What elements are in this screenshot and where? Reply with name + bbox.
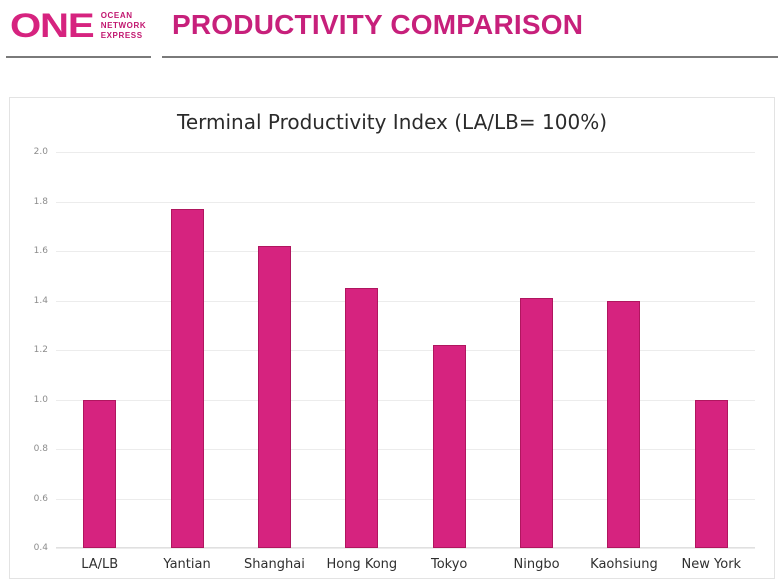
logo-word-line-3: EXPRESS (101, 31, 147, 41)
y-axis-tick-label: 0.6 (34, 494, 48, 504)
y-axis-tick-label: 0.4 (34, 543, 48, 553)
gridline: 0.4 (56, 548, 755, 549)
gridline: 0.8 (56, 449, 755, 450)
header-divider-right (162, 56, 778, 58)
x-axis-tick-label: Tokyo (431, 557, 467, 572)
y-axis-tick-label: 0.8 (34, 444, 48, 454)
logo-mark-text: ONE (10, 9, 93, 43)
chart-bar[interactable] (83, 400, 116, 549)
gridline: 1.2 (56, 350, 755, 351)
x-axis-tick-label: Kaohsiung (590, 557, 658, 572)
gridline: 1.6 (56, 251, 755, 252)
logo-word-line-1: OCEAN (101, 11, 147, 21)
chart-bar[interactable] (258, 246, 291, 548)
chart-bar[interactable] (607, 301, 640, 549)
page-title: PRODUCTIVITY COMPARISON (172, 9, 583, 41)
y-axis-tick-label: 1.8 (34, 197, 48, 207)
gridline: 1.4 (56, 301, 755, 302)
y-axis-tick-label: 1.4 (34, 296, 48, 306)
y-axis-tick-label: 1.2 (34, 345, 48, 355)
chart-bar[interactable] (345, 288, 378, 548)
gridline: 2.0 (56, 152, 755, 153)
x-axis-tick-label: Ningbo (514, 557, 560, 572)
chart-bar[interactable] (520, 298, 553, 548)
plot-area: 2.01.81.61.41.21.00.80.60.4LA/LBYantianS… (56, 152, 755, 548)
x-axis-tick-label: New York (682, 557, 742, 572)
y-axis-tick-label: 1.0 (34, 395, 48, 405)
page-header: ONE OCEAN NETWORK EXPRESS PRODUCTIVITY C… (0, 0, 784, 58)
x-axis-tick-label: LA/LB (81, 557, 118, 572)
gridline: 1.8 (56, 202, 755, 203)
chart-bar[interactable] (433, 345, 466, 548)
gridline: 1.0 (56, 400, 755, 401)
x-axis-tick-label: Hong Kong (326, 557, 397, 572)
logo-wordmark: OCEAN NETWORK EXPRESS (101, 11, 147, 41)
gridline: 0.6 (56, 499, 755, 500)
chart-bar[interactable] (695, 400, 728, 549)
y-axis-tick-label: 2.0 (34, 147, 48, 157)
logo-mark: ONE (10, 9, 81, 43)
chart-bar[interactable] (171, 209, 204, 548)
y-axis-tick-label: 1.6 (34, 246, 48, 256)
header-divider-left (6, 56, 151, 58)
one-logo: ONE OCEAN NETWORK EXPRESS (10, 9, 146, 43)
chart-panel: Terminal Productivity Index (LA/LB= 100%… (9, 97, 775, 579)
x-axis-tick-label: Yantian (163, 557, 210, 572)
chart-title: Terminal Productivity Index (LA/LB= 100%… (10, 110, 774, 134)
x-axis-tick-label: Shanghai (244, 557, 305, 572)
logo-word-line-2: NETWORK (101, 21, 147, 31)
